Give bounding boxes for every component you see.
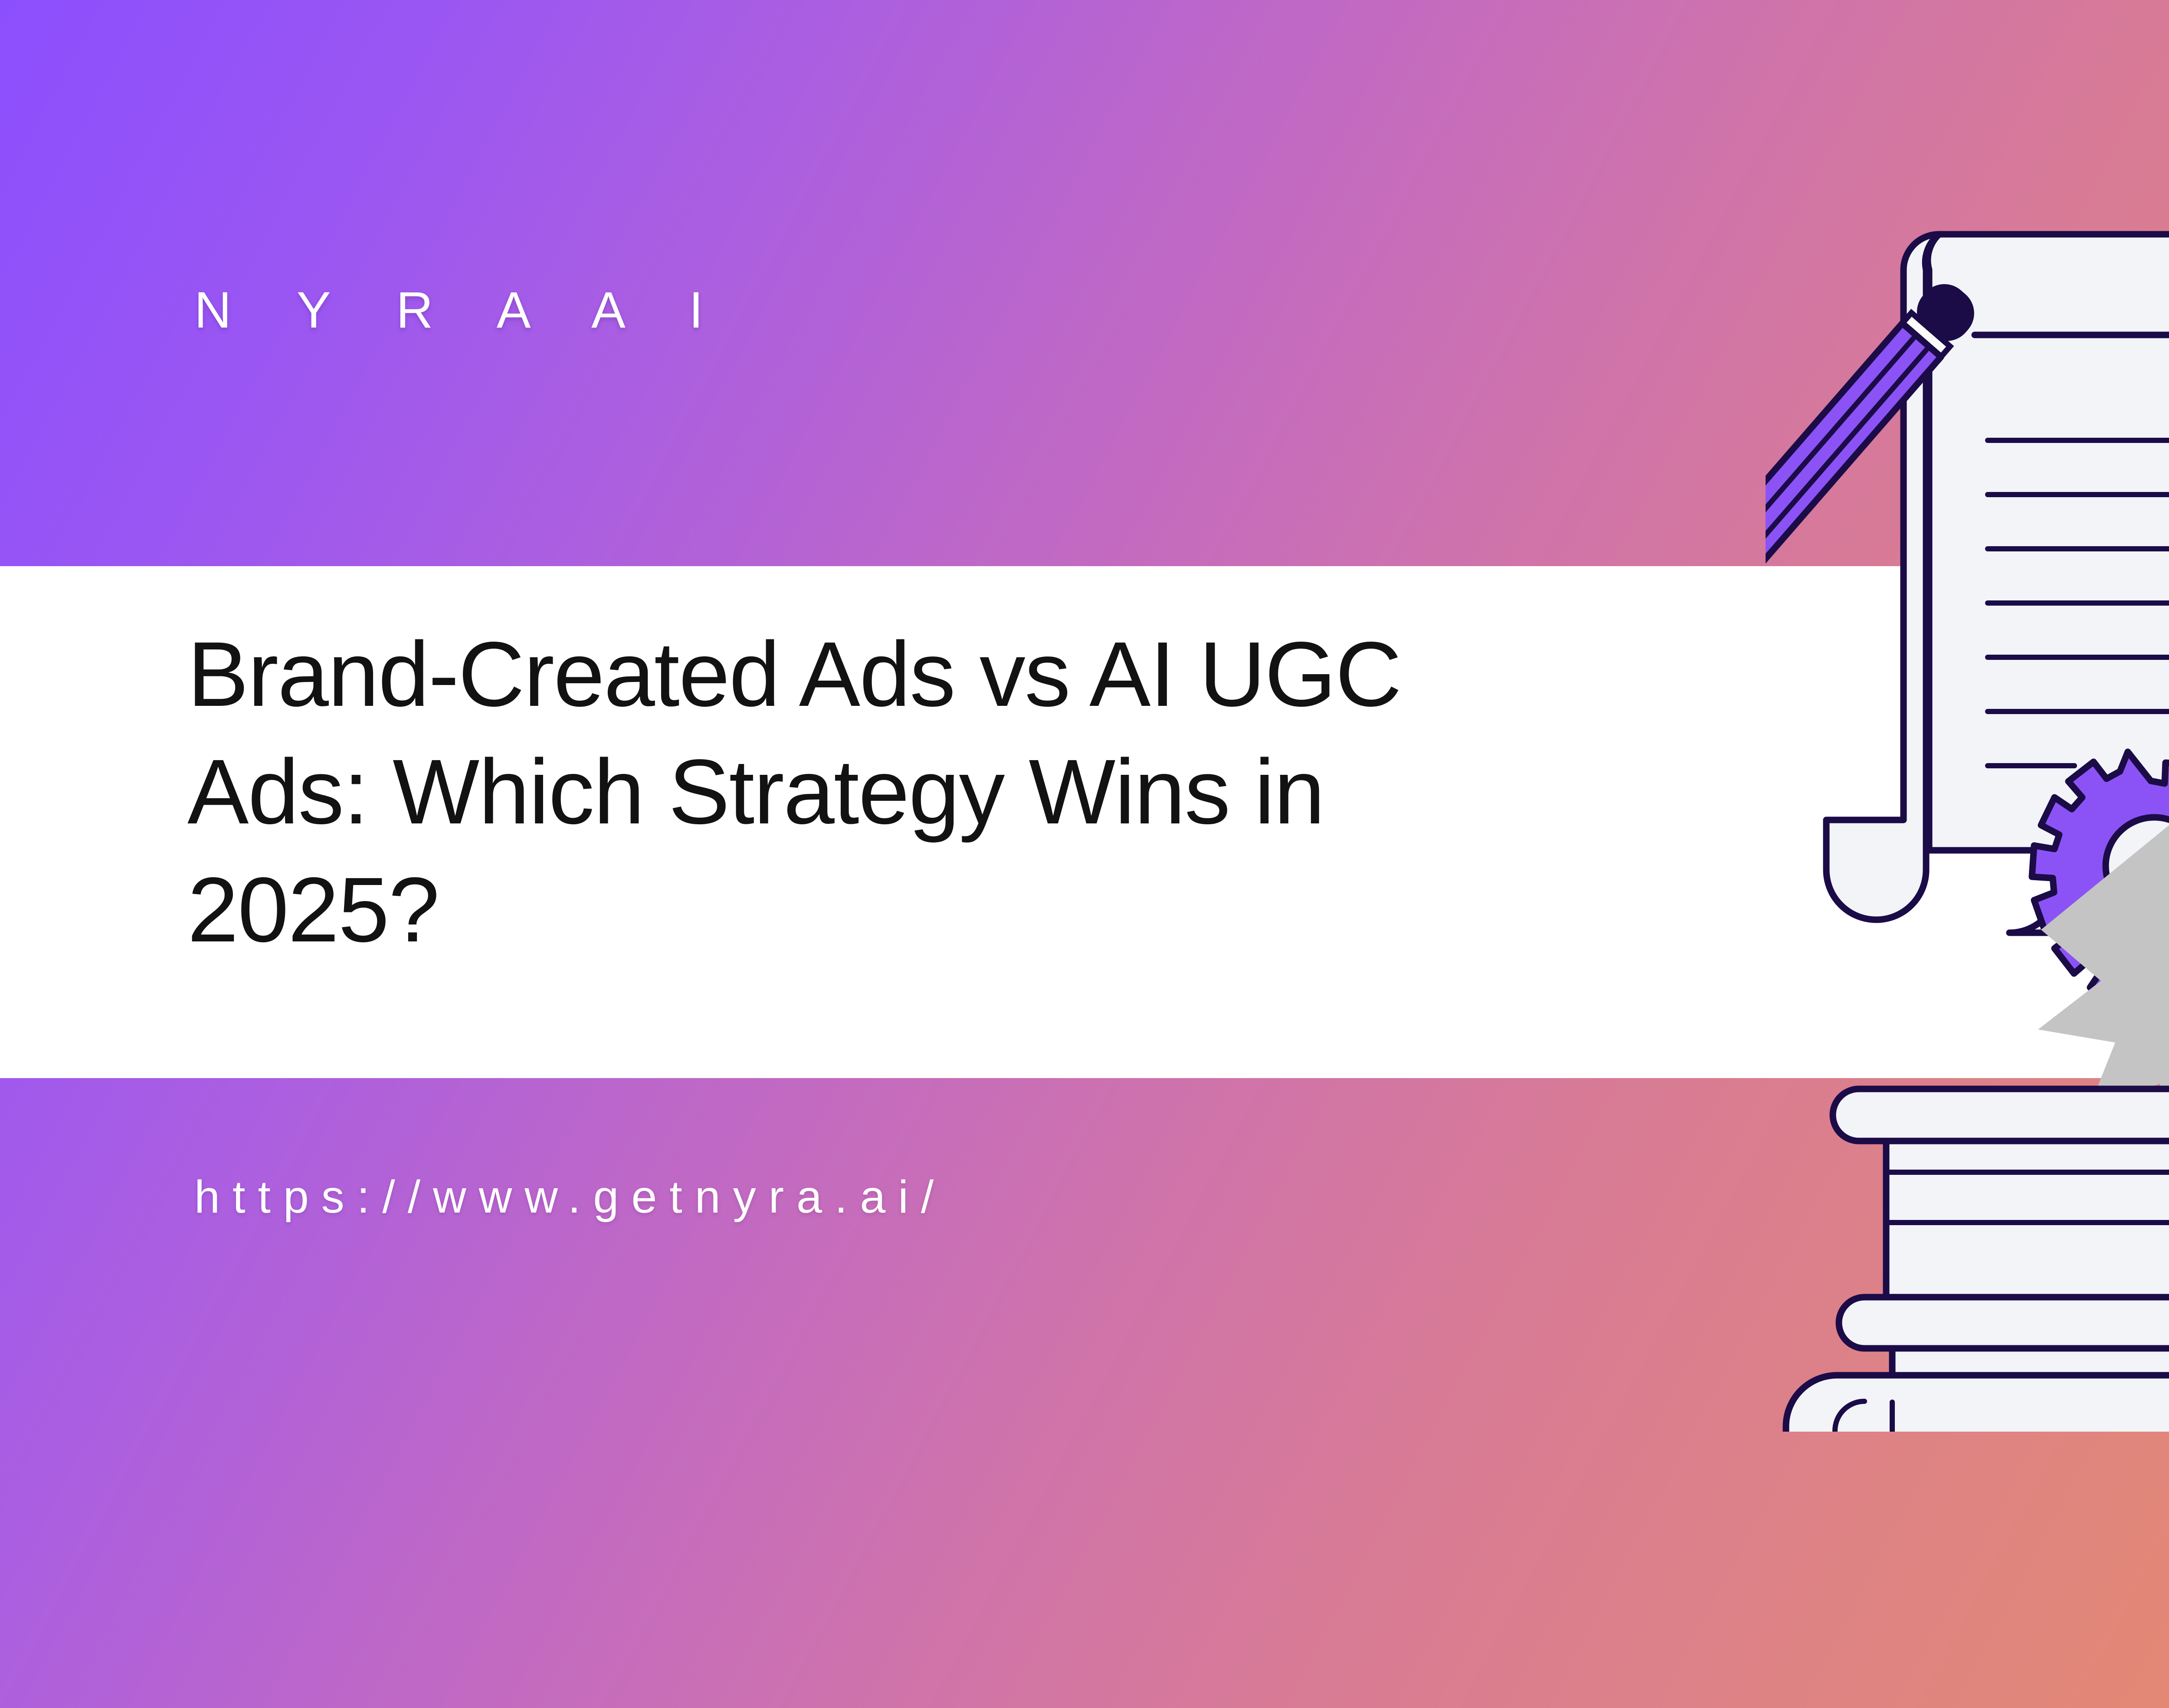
book-top (1833, 1089, 2169, 1297)
brand-name: N Y R A A I (194, 285, 729, 336)
social-share-banner: N Y R A A I Brand-Created Ads vs AI UGC … (0, 0, 2169, 1708)
site-url[interactable]: https://www.getnyra.ai/ (194, 1174, 946, 1220)
book-bottom (1786, 1375, 2169, 1432)
book-stack (1786, 1089, 2169, 1432)
page-title: Brand-Created Ads vs AI UGC Ads: Which S… (187, 615, 1554, 968)
hero-illustration: .ln { fill:none; stroke:#1B0B47; stroke-… (1766, 204, 2169, 1432)
